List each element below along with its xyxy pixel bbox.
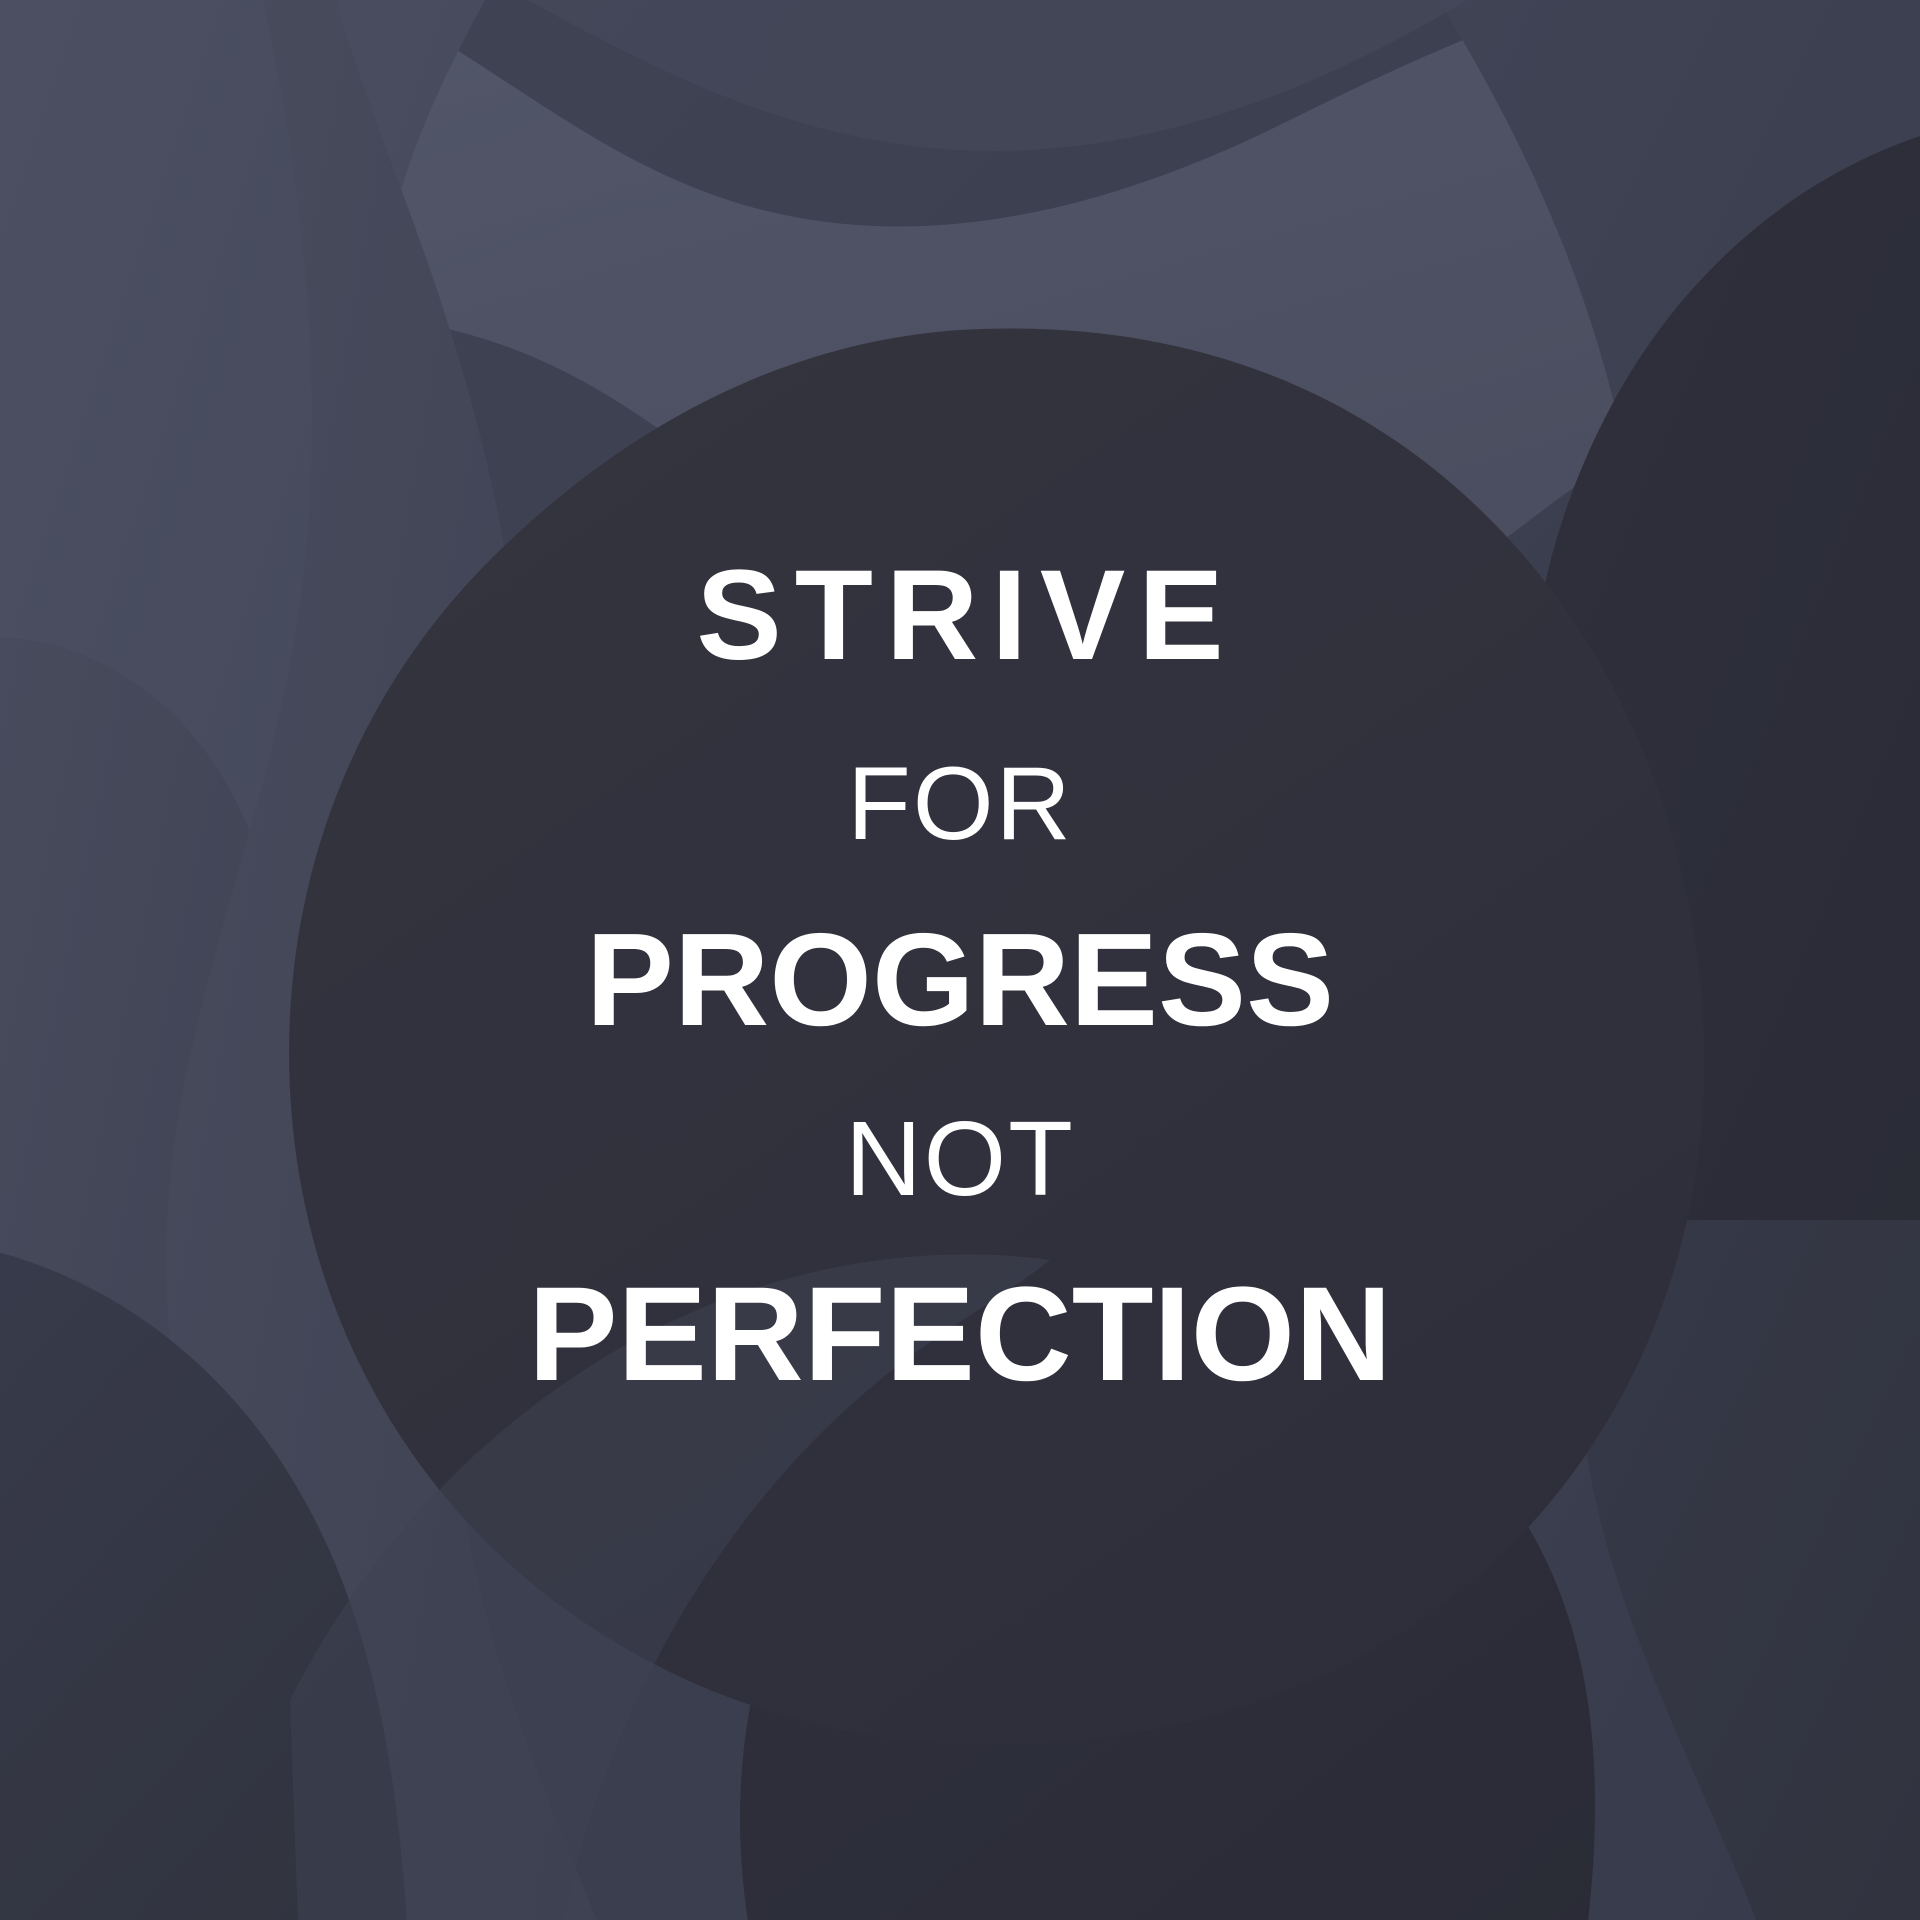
quote-line-strive: STRIVE bbox=[683, 552, 1236, 680]
quote-line-for: FOR bbox=[847, 752, 1073, 856]
quote-text-block: STRIVE FOR PROGRESS NOT PERFECTION bbox=[0, 0, 1920, 1920]
quote-poster: STRIVE FOR PROGRESS NOT PERFECTION bbox=[0, 0, 1920, 1920]
quote-line-perfection: PERFECTION bbox=[528, 1268, 1392, 1402]
quote-line-not: NOT bbox=[845, 1106, 1075, 1212]
quote-line-progress: PROGRESS bbox=[586, 914, 1334, 1046]
